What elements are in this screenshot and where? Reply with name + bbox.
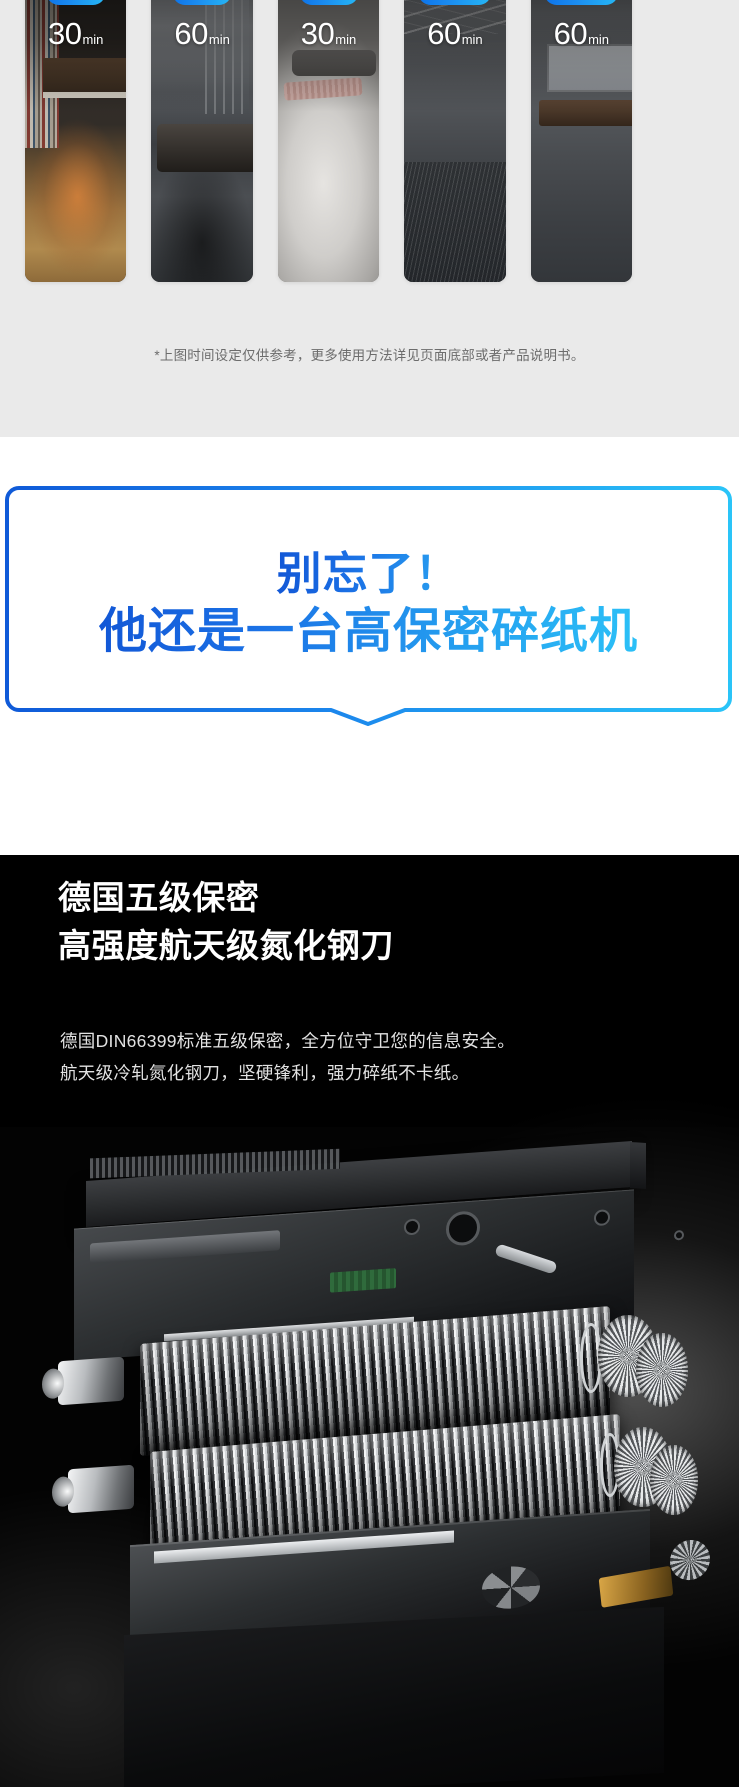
mounting-hole-detail (446, 1210, 480, 1246)
blade-security-section: 德国五级保密 高强度航天级氮化钢刀 德国DIN66399标准五级保密，全方位守卫… (0, 855, 739, 1787)
runtime-label: 60min (554, 16, 609, 52)
runtime-unit: min (462, 32, 483, 47)
runtime-minutes: 60 (554, 16, 587, 51)
lower-shaft-bearing-part (68, 1465, 134, 1514)
brass-gearbox-detail (599, 1566, 674, 1608)
usage-scenarios-section: 书房 30min 客厅 60min 卧室 30min 办公室 (0, 0, 739, 437)
scenarios-footnote: *上图时间设定仅供参考，更多使用方法详见页面底部或者产品说明书。 (0, 344, 739, 364)
runtime-minutes: 30 (48, 16, 81, 51)
runtime-unit: min (209, 32, 230, 47)
room-badge: 卧室 (299, 0, 358, 5)
runtime-label: 30min (301, 16, 356, 52)
blade-description-line-1: 德国DIN66399标准五级保密，全方位守卫您的信息安全。 (60, 1031, 515, 1051)
scenario-card-office[interactable]: 办公室 60min (404, 0, 505, 282)
runtime-unit: min (588, 32, 609, 47)
runtime-minutes: 30 (301, 16, 334, 51)
blade-description-line-2: 航天级冷轧氮化钢刀，坚硬锋利，强力碎纸不卡纸。 (60, 1063, 469, 1083)
runtime-label: 30min (48, 16, 103, 52)
room-badge: 办公室 (418, 0, 492, 5)
mounting-hole-detail (404, 1218, 420, 1235)
scenario-card-row: 书房 30min 客厅 60min 卧室 30min 办公室 (25, 0, 632, 282)
shredder-cutter-assembly-photo (0, 1127, 739, 1787)
drive-gear-detail (670, 1539, 710, 1582)
speech-bubble: 别忘了！ 他还是一台高保密碎纸机 (5, 486, 732, 727)
scenario-card-meeting-room[interactable]: 会议室 60min (531, 0, 632, 282)
room-badge: 会议室 (545, 0, 619, 5)
blade-heading-line-1: 德国五级保密 (58, 879, 260, 916)
piston-rod-detail (494, 1243, 558, 1274)
blade-heading-line-2: 高强度航天级氮化钢刀 (58, 927, 394, 964)
mounting-hole-detail (674, 1230, 684, 1241)
callout-line-2: 他还是一台高保密碎纸机 (99, 604, 638, 661)
scenario-card-bedroom[interactable]: 卧室 30min (278, 0, 379, 282)
runtime-minutes: 60 (427, 16, 460, 51)
callout-section: 别忘了！ 他还是一台高保密碎纸机 (0, 437, 739, 855)
lower-housing-part (124, 1607, 664, 1787)
scenario-card-study[interactable]: 书房 30min (25, 0, 126, 282)
runtime-unit: min (82, 32, 103, 47)
upper-shaft-bearing-part (58, 1357, 124, 1406)
runtime-label: 60min (174, 16, 229, 52)
cooling-fan-detail (482, 1565, 540, 1611)
runtime-unit: min (335, 32, 356, 47)
circuit-board-detail (330, 1268, 396, 1293)
mounting-hole-detail (594, 1209, 610, 1226)
chassis-bar-detail (90, 1230, 280, 1263)
runtime-label: 60min (427, 16, 482, 52)
callout-text-block: 别忘了！ 他还是一台高保密碎纸机 (5, 486, 732, 727)
callout-line-1: 别忘了！ (276, 547, 460, 600)
cutter-disc-part (650, 1445, 698, 1515)
blade-description: 德国DIN66399标准五级保密，全方位守卫您的信息安全。 航天级冷轧氮化钢刀，… (60, 1025, 515, 1090)
blade-heading: 德国五级保密 高强度航天级氮化钢刀 (58, 874, 394, 969)
cutter-disc-part (636, 1333, 688, 1407)
room-badge: 客厅 (173, 0, 232, 5)
runtime-minutes: 60 (174, 16, 207, 51)
scenario-card-living-room[interactable]: 客厅 60min (151, 0, 252, 282)
room-badge: 书房 (46, 0, 105, 5)
